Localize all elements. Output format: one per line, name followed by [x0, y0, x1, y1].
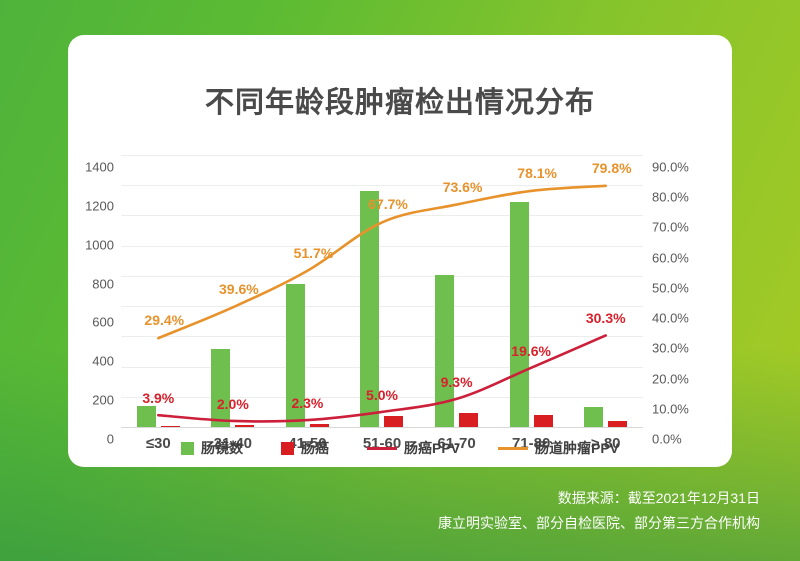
y-tick-right: 30.0% — [652, 342, 689, 355]
label-cancer-ppv: 19.6% — [511, 344, 551, 358]
gridline — [121, 427, 643, 428]
y-tick-left: 400 — [92, 355, 114, 368]
legend-item[interactable]: 肠癌PPV — [367, 438, 460, 458]
label-cancer-ppv: 2.0% — [217, 397, 249, 411]
label-tumor-ppv: 29.4% — [144, 313, 184, 327]
poster-background: 不同年龄段肿瘤检出情况分布 0200400600800100012001400 … — [0, 0, 800, 561]
legend-swatch-icon — [281, 442, 294, 455]
plot-area: 0200400600800100012001400 0.0%10.0%20.0%… — [68, 143, 732, 433]
label-cancer-ppv: 9.3% — [441, 375, 473, 389]
y-tick-right: 20.0% — [652, 372, 689, 385]
y-tick-right: 10.0% — [652, 402, 689, 415]
label-tumor-ppv: 39.6% — [219, 282, 259, 296]
legend-label: 肠癌PPV — [404, 438, 460, 458]
label-tumor-ppv: 78.1% — [517, 166, 557, 180]
y-tick-left: 800 — [92, 277, 114, 290]
legend-line-icon — [367, 447, 397, 450]
legend-item[interactable]: 肠镜数 — [181, 438, 243, 458]
plot-canvas: 3.9%2.0%2.3%5.0%9.3%19.6%30.3%29.4%39.6%… — [121, 155, 643, 427]
label-tumor-ppv: 79.8% — [592, 161, 632, 175]
label-cancer-ppv: 2.3% — [291, 396, 323, 410]
y-tick-left: 1000 — [85, 238, 114, 251]
y-tick-right: 90.0% — [652, 161, 689, 174]
chart-card: 不同年龄段肿瘤检出情况分布 0200400600800100012001400 … — [68, 35, 732, 467]
legend-item[interactable]: 肠癌 — [281, 438, 329, 458]
label-cancer-ppv: 5.0% — [366, 388, 398, 402]
y-tick-right: 60.0% — [652, 251, 689, 264]
label-tumor-ppv: 73.6% — [443, 180, 483, 194]
y-tick-right: 50.0% — [652, 281, 689, 294]
label-tumor-ppv: 67.7% — [368, 197, 408, 211]
legend-item[interactable]: 肠道肿瘤PPV — [498, 438, 619, 458]
label-cancer-ppv: 30.3% — [586, 311, 626, 325]
chart-legend: 肠镜数肠癌肠癌PPV肠道肿瘤PPV — [68, 433, 732, 463]
y-axis-right: 0.0%10.0%20.0%30.0%40.0%50.0%60.0%70.0%8… — [646, 155, 706, 427]
legend-swatch-icon — [181, 442, 194, 455]
legend-line-icon — [498, 447, 528, 450]
label-tumor-ppv: 51.7% — [294, 246, 334, 260]
source-line-1: 数据来源：截至2021年12月31日 — [0, 486, 760, 511]
y-tick-left: 1200 — [85, 199, 114, 212]
legend-label: 肠镜数 — [201, 438, 243, 458]
source-line-2: 康立明实验室、部分自检医院、部分第三方合作机构 — [0, 511, 760, 536]
y-tick-left: 600 — [92, 316, 114, 329]
y-tick-left: 1400 — [85, 161, 114, 174]
legend-label: 肠癌 — [301, 438, 329, 458]
source-footer: 数据来源：截至2021年12月31日 康立明实验室、部分自检医院、部分第三方合作… — [0, 486, 760, 536]
chart-title: 不同年龄段肿瘤检出情况分布 — [68, 79, 732, 121]
y-tick-right: 70.0% — [652, 221, 689, 234]
y-tick-left: 200 — [92, 394, 114, 407]
y-axis-left: 0200400600800100012001400 — [68, 155, 114, 427]
label-cancer-ppv: 3.9% — [142, 391, 174, 405]
legend-label: 肠道肿瘤PPV — [535, 438, 619, 458]
y-tick-right: 40.0% — [652, 312, 689, 325]
y-tick-right: 80.0% — [652, 191, 689, 204]
